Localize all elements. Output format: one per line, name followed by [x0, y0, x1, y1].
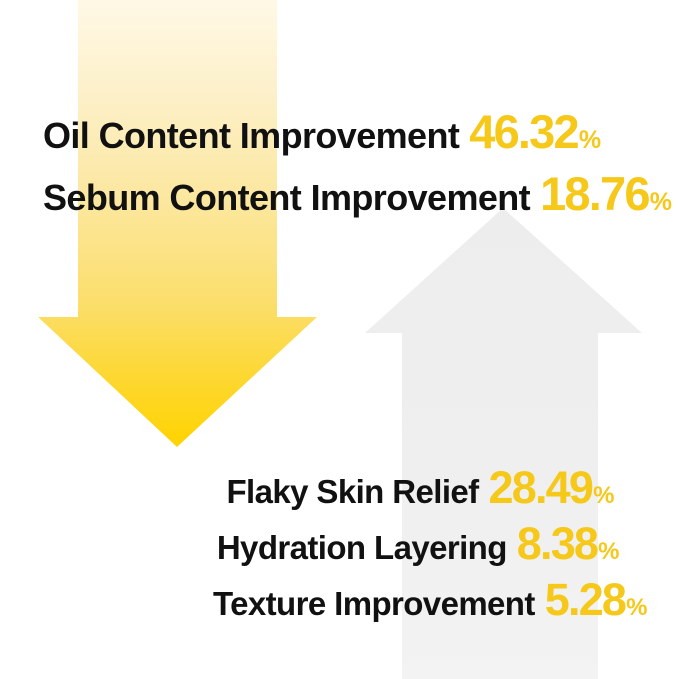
stat-value-oil-content: 46.32 — [469, 104, 578, 159]
stat-label-texture-improvement: Texture Improvement — [213, 585, 535, 623]
stat-value-flaky-skin-relief: 28.49 — [489, 462, 593, 514]
stat-value-texture-improvement: 5.28 — [545, 574, 625, 626]
stat-label-flaky-skin-relief: Flaky Skin Relief — [226, 473, 478, 511]
stat-row-hydration-layering: Hydration Layering 8.38 % — [217, 518, 619, 570]
stat-value-sebum-content: 18.76 — [540, 166, 649, 221]
stat-row-sebum-content: Sebum Content Improvement 18.76 % — [43, 166, 671, 221]
stat-unit-flaky-skin-relief: % — [593, 482, 614, 510]
stat-unit-oil-content: % — [579, 126, 601, 155]
stat-row-texture-improvement: Texture Improvement 5.28 % — [213, 574, 647, 626]
stat-value-hydration-layering: 8.38 — [517, 518, 597, 570]
stat-label-oil-content: Oil Content Improvement — [43, 115, 459, 157]
stat-unit-sebum-content: % — [650, 188, 672, 217]
stat-label-hydration-layering: Hydration Layering — [217, 529, 507, 567]
stat-label-sebum-content: Sebum Content Improvement — [43, 177, 530, 219]
stat-row-oil-content: Oil Content Improvement 46.32 % — [43, 104, 601, 159]
stat-row-flaky-skin-relief: Flaky Skin Relief 28.49 % — [226, 462, 614, 514]
statistics-text-layer: Oil Content Improvement 46.32 % Sebum Co… — [0, 0, 679, 679]
stat-unit-texture-improvement: % — [626, 594, 647, 622]
stat-unit-hydration-layering: % — [598, 538, 619, 566]
infographic-canvas: Oil Content Improvement 46.32 % Sebum Co… — [0, 0, 679, 679]
